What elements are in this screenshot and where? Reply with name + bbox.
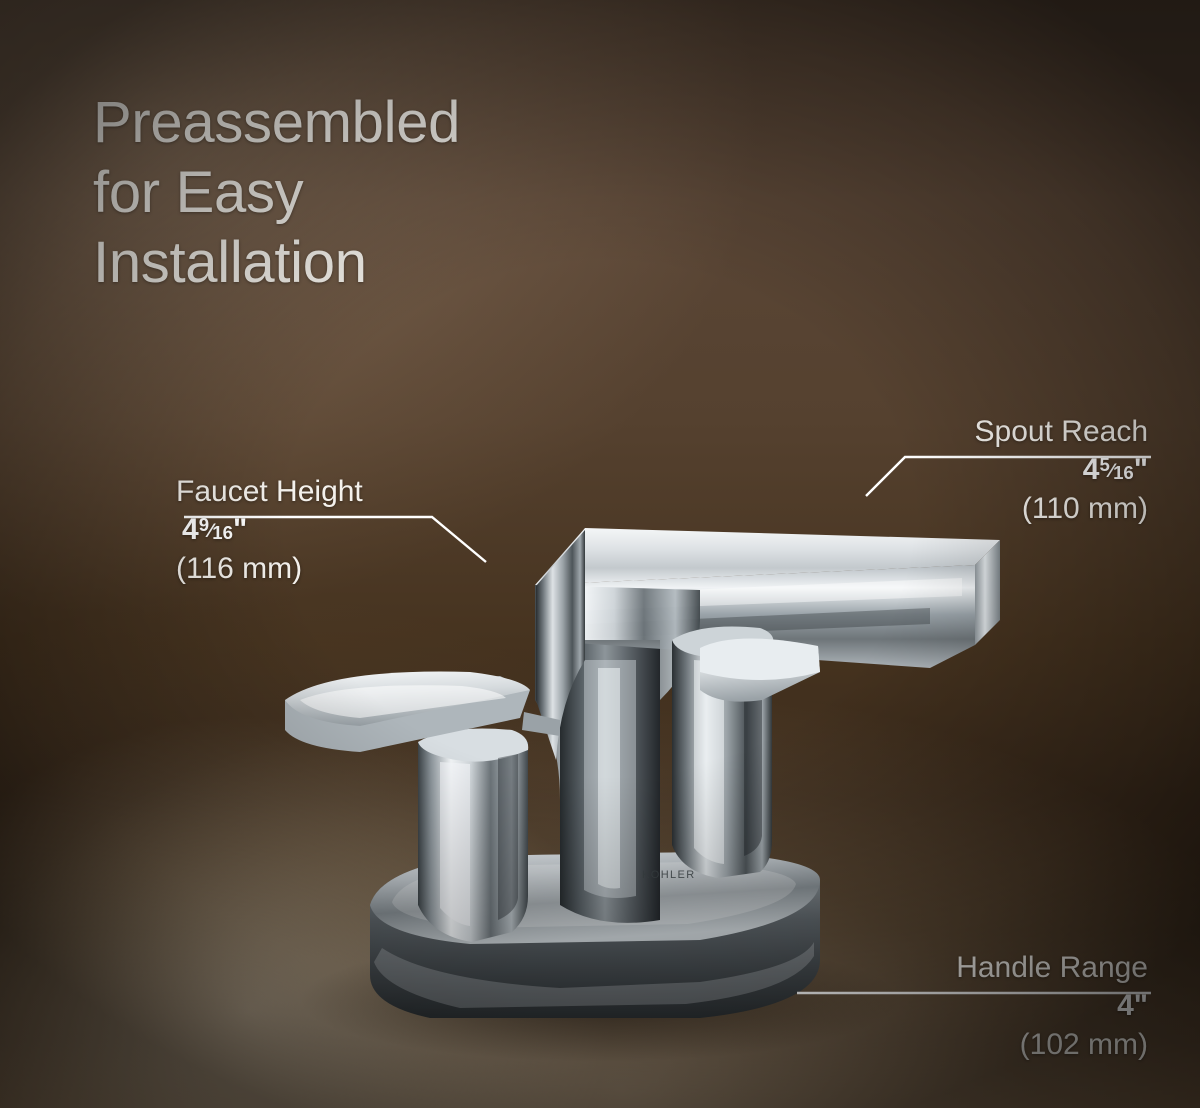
- callout-spout-reach-label: Spout Reach: [975, 414, 1148, 450]
- callout-faucet-height-metric: (116 mm): [176, 550, 363, 588]
- value-whole: 4: [182, 513, 199, 546]
- headline: Preassembled for Easy Installation: [93, 88, 460, 298]
- callout-handle-range-metric: (102 mm): [956, 1026, 1148, 1064]
- value-whole: 4: [1117, 989, 1134, 1022]
- callout-spout-reach: Spout Reach 45⁄16" (110 mm): [975, 414, 1148, 528]
- callout-faucet-height-label: Faucet Height: [176, 474, 363, 510]
- callout-faucet-height: Faucet Height 49⁄16" (116 mm): [176, 474, 363, 588]
- product-callout-image: KOHLER: [0, 0, 1200, 1108]
- value-unit: ": [1134, 453, 1148, 486]
- value-whole: 4: [1083, 453, 1100, 486]
- callout-handle-range-label: Handle Range: [956, 950, 1148, 986]
- callout-spout-reach-metric: (110 mm): [975, 490, 1148, 528]
- value-fraction: 9⁄16: [199, 522, 233, 542]
- value-unit: ": [1134, 989, 1148, 1022]
- callout-handle-range: Handle Range 4" (102 mm): [956, 950, 1148, 1064]
- brand-mark: KOHLER: [642, 869, 696, 881]
- callout-faucet-height-value: 49⁄16": [176, 510, 363, 550]
- callout-spout-reach-value: 45⁄16": [975, 450, 1148, 490]
- value-fraction: 5⁄16: [1099, 462, 1133, 482]
- callout-handle-range-value: 4": [956, 986, 1148, 1026]
- value-unit: ": [233, 513, 247, 546]
